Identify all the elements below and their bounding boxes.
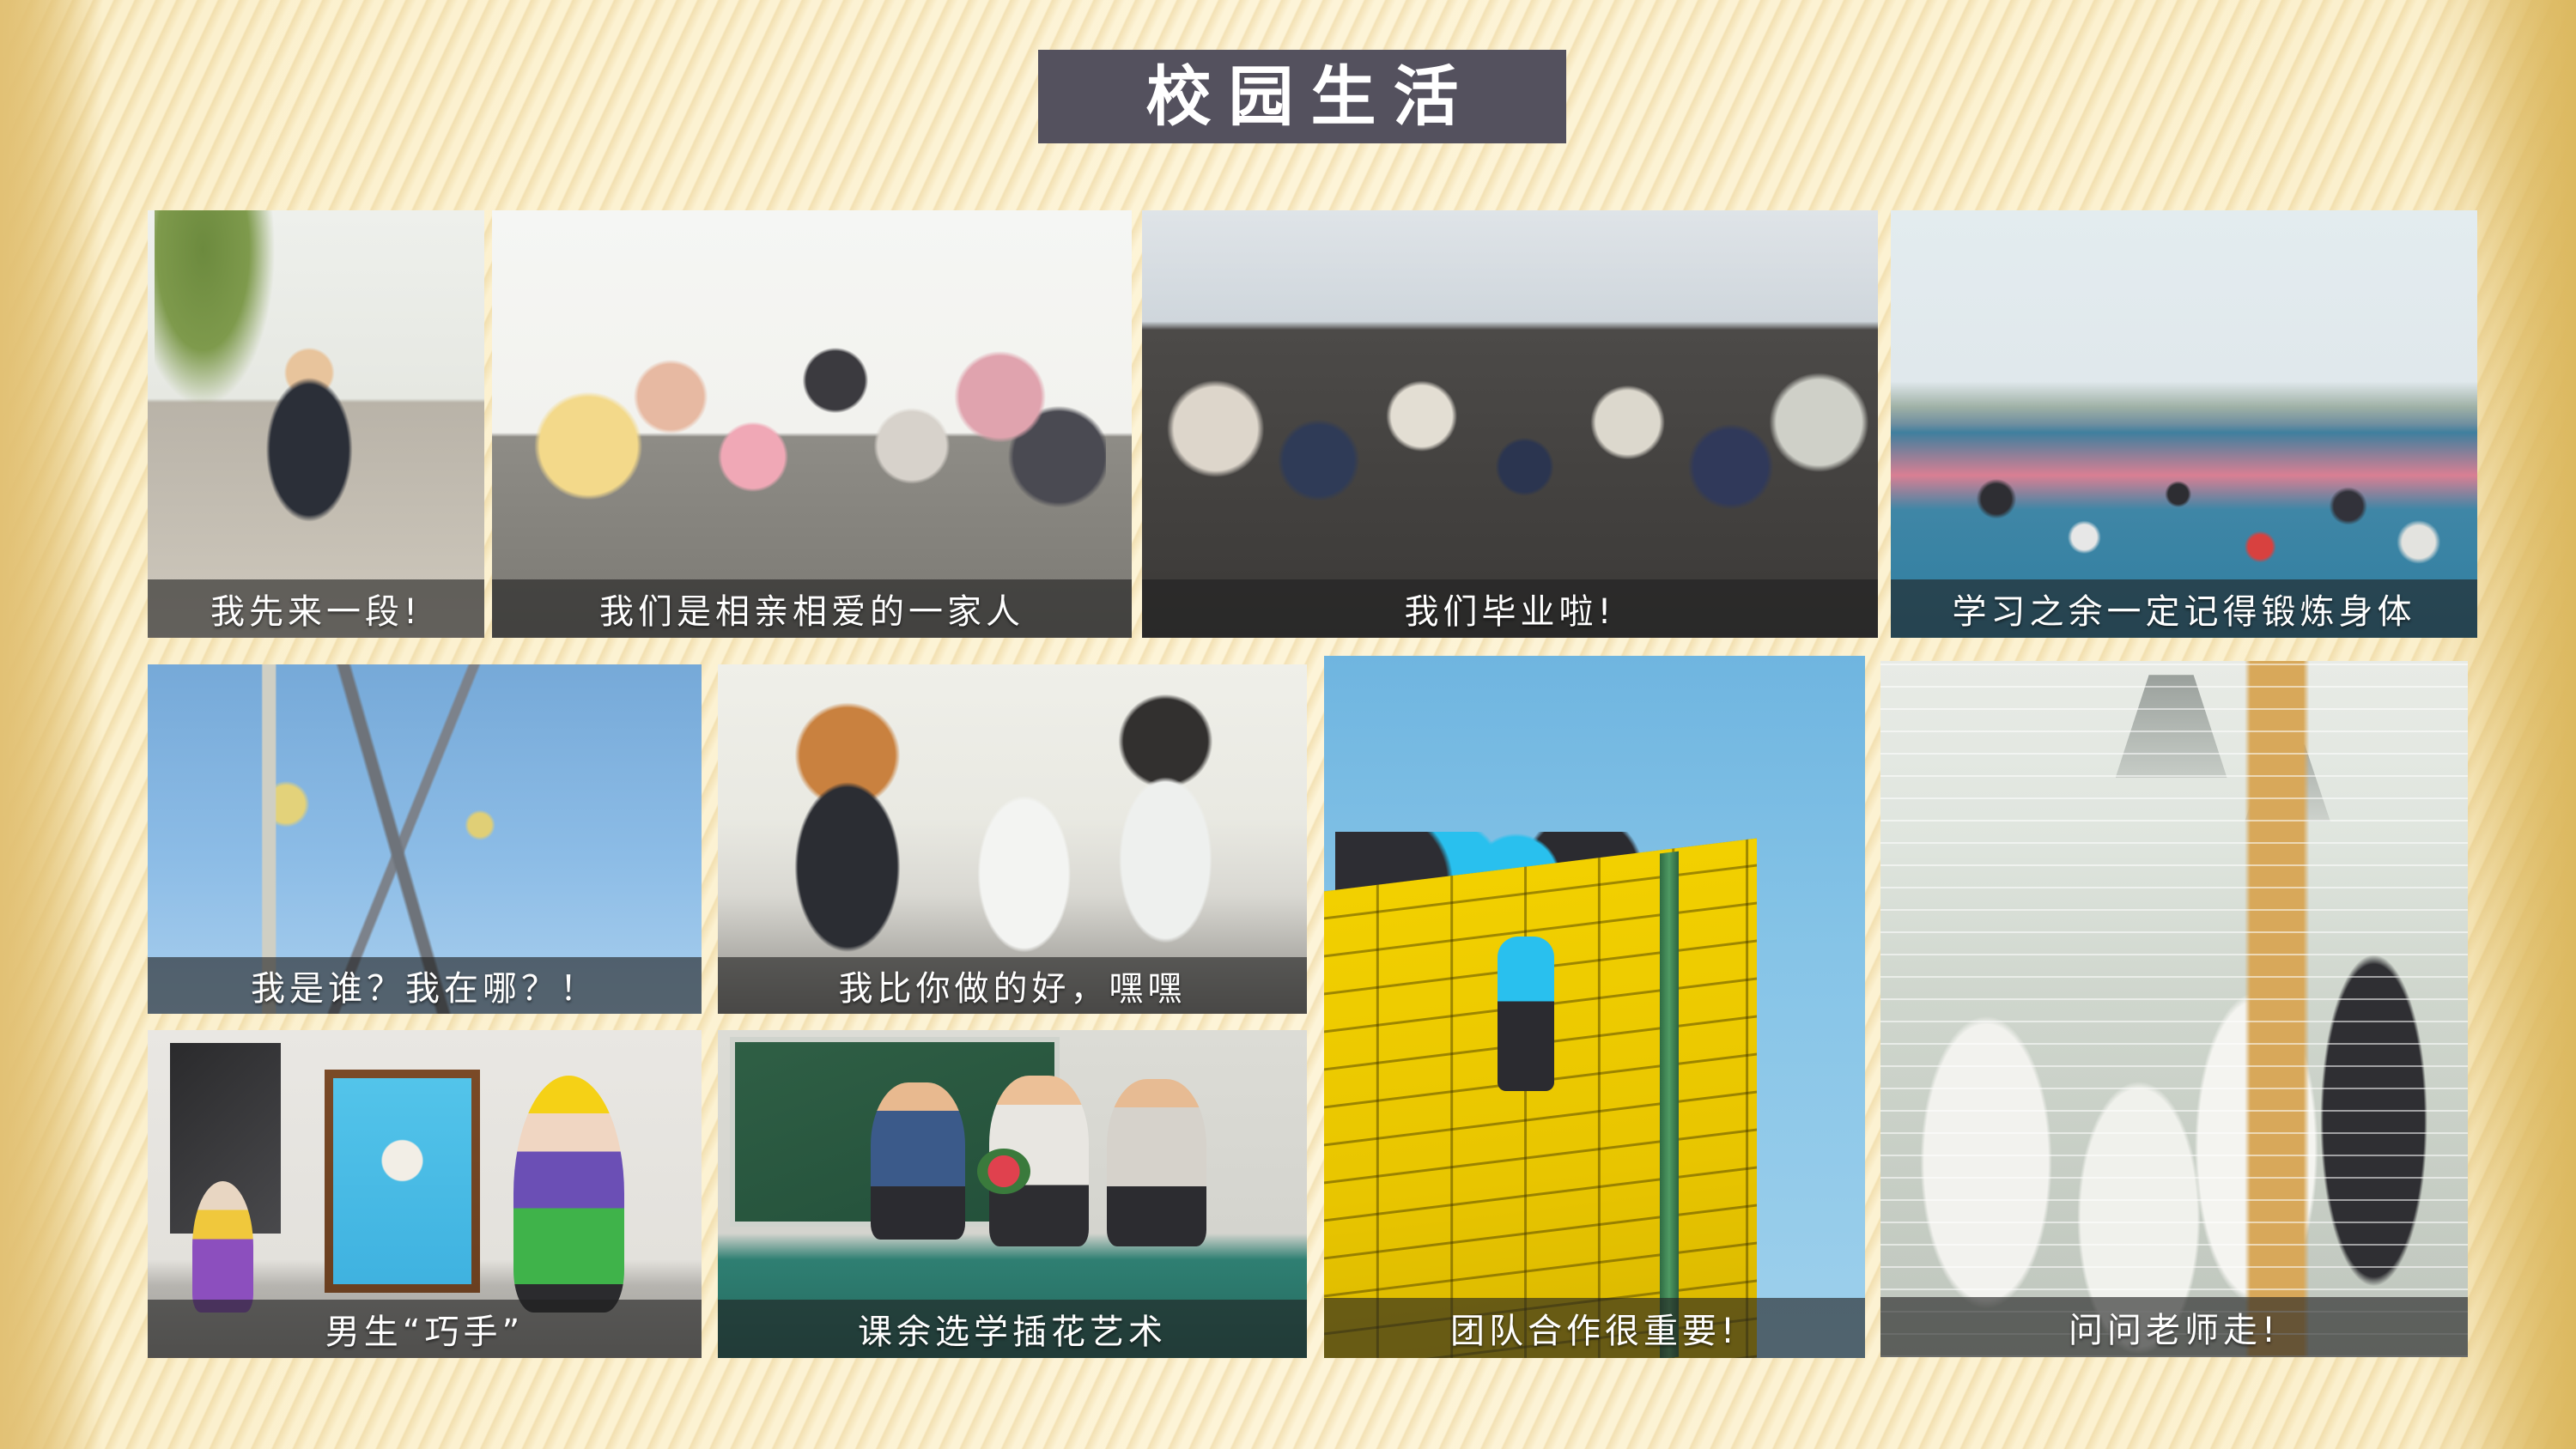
fume-hood-shape: [2116, 675, 2227, 778]
photo-card-8[interactable]: 问问老师走!: [1880, 661, 2468, 1357]
clay-girl-figure-shape: [192, 1181, 253, 1313]
photo-card-2[interactable]: 我们是相亲相爱的一家人: [492, 210, 1132, 638]
photo-card-7[interactable]: 团队合作很重要!: [1324, 656, 1865, 1358]
photo-image-riverside-girl-dancing: [148, 210, 484, 638]
photo-card-10[interactable]: 课余选学插花艺术: [718, 1030, 1307, 1358]
photo-card-6[interactable]: 我比你做的好，嘿嘿: [718, 664, 1307, 1014]
photo-image-basketball-court-students: [1891, 210, 2477, 638]
photo-image-lab-teacher-students: [1880, 661, 2468, 1357]
page-title-banner: 校园生活: [1038, 50, 1566, 143]
photo-card-9[interactable]: 男生“巧手”: [148, 1030, 702, 1358]
photo-caption-6: 我比你做的好，嘿嘿: [718, 957, 1307, 1014]
person-right-shape: [1107, 1079, 1207, 1246]
photo-caption-2: 我们是相亲相爱的一家人: [492, 579, 1132, 638]
photo-caption-5: 我是谁？我在哪？！: [148, 957, 702, 1014]
photo-caption-7: 团队合作很重要!: [1324, 1298, 1865, 1358]
photo-caption-9: 男生“巧手”: [148, 1300, 702, 1358]
photo-caption-8: 问问老师走!: [1880, 1297, 2468, 1357]
photo-card-5[interactable]: 我是谁？我在哪？！: [148, 664, 702, 1014]
right-edge-gradient: [2473, 0, 2576, 1449]
photo-caption-1: 我先来一段!: [148, 579, 484, 638]
clay-picture-frame-shape: [325, 1070, 480, 1293]
climbing-student-shape: [1498, 937, 1554, 1091]
photo-card-1[interactable]: 我先来一段!: [148, 210, 484, 638]
photo-caption-10: 课余选学插花艺术: [718, 1300, 1307, 1358]
photo-card-4[interactable]: 学习之余一定记得锻炼身体: [1891, 210, 2477, 638]
photo-caption-3: 我们毕业啦!: [1142, 579, 1878, 638]
photo-image-team-yellow-wall-climb: [1324, 656, 1865, 1358]
photo-card-3[interactable]: 我们毕业啦!: [1142, 210, 1878, 638]
slide-canvas: 校园生活 我先来一段! 我们是相亲相爱的一家人 我们毕业啦! 学习之余一定记得锻…: [0, 0, 2576, 1449]
page-title: 校园生活: [1129, 64, 1476, 130]
left-edge-gradient: [0, 0, 103, 1449]
photo-caption-4: 学习之余一定记得锻炼身体: [1891, 579, 2477, 638]
clay-picture-art-shape: [333, 1078, 471, 1284]
photo-image-class-group-photo-outdoors: [492, 210, 1132, 638]
yellow-brick-wall-shape: [1324, 839, 1757, 1358]
person-left-shape: [871, 1082, 965, 1240]
clay-clown-figure-shape: [513, 1076, 624, 1312]
fume-hood-secondary-shape: [2245, 744, 2330, 822]
flower-bouquet-shape: [977, 1149, 1030, 1194]
photo-image-graduation-group-stairwell: [1142, 210, 1878, 638]
wall-support-post-shape: [1660, 852, 1679, 1358]
